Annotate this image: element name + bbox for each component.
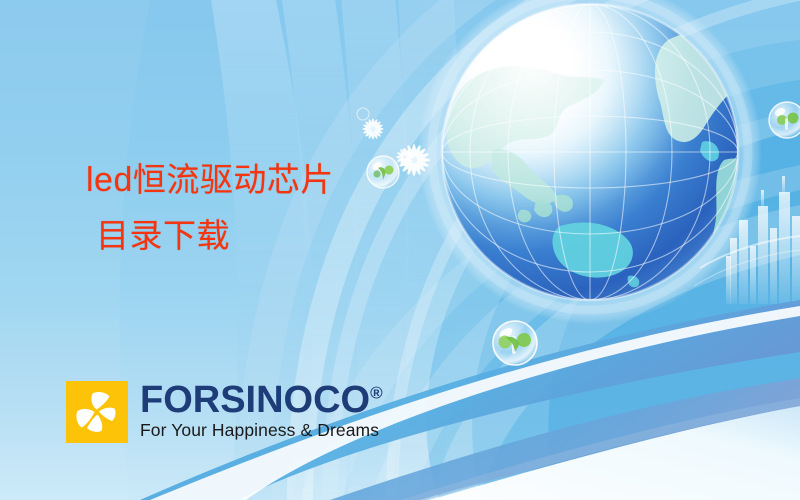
brand-lockup-text: FORSINOCO® For Your Happiness & Dreams: [140, 381, 383, 440]
headline-latin: led: [86, 161, 133, 199]
white-daisy-small: [363, 119, 384, 140]
brand-word: FORSINOCO: [140, 379, 370, 421]
headline: led恒流驱动芯片 目录下载: [86, 163, 506, 252]
brand-name: FORSINOCO®: [140, 382, 383, 419]
four-petal-flower-icon: [66, 381, 128, 443]
bubble-with-sprout-bottom: [493, 321, 537, 365]
brand-logo: FORSINOCO® For Your Happiness & Dreams: [66, 381, 383, 443]
headline-line-1: led恒流驱动芯片: [86, 163, 506, 197]
bubble-with-sprout-right: [769, 102, 800, 138]
registered-trademark-icon: ®: [370, 383, 383, 402]
brand-tagline: For Your Happiness & Dreams: [140, 421, 383, 439]
headline-line-2: 目录下载: [96, 219, 506, 252]
headline-cjk: 恒流驱动芯片: [133, 160, 334, 199]
promo-banner: led恒流驱动芯片 目录下载 FORSINOCO® For Your Happi…: [0, 0, 800, 500]
